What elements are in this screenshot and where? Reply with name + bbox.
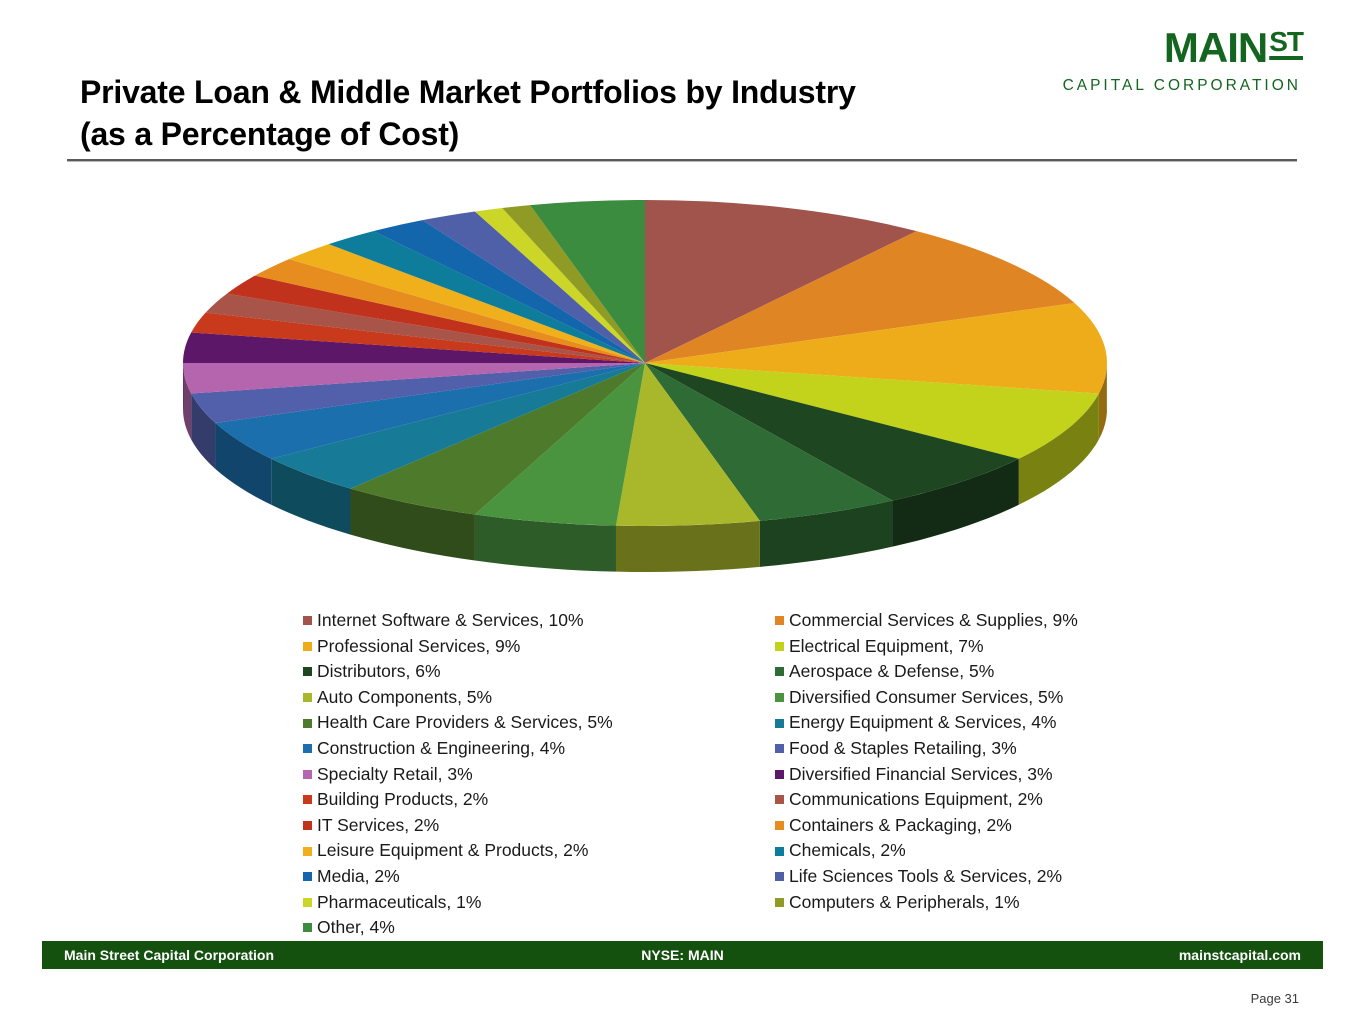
legend-item-label: Electrical Equipment, 7% — [789, 638, 984, 656]
legend-item-label: Aerospace & Defense, 5% — [789, 663, 994, 681]
footer-ticker: NYSE: MAIN — [641, 947, 723, 963]
legend-item[interactable]: IT Services, 2% — [303, 813, 773, 839]
page-title: Private Loan & Middle Market Portfolios … — [80, 72, 1080, 155]
legend-swatch-icon — [303, 667, 312, 676]
legend-item-label: Media, 2% — [317, 868, 400, 886]
legend-item[interactable]: Building Products, 2% — [303, 787, 773, 813]
logo-st-text: ST — [1269, 28, 1303, 56]
legend-item[interactable]: Media, 2% — [303, 864, 773, 890]
legend-item[interactable]: Electrical Equipment, 7% — [775, 634, 1245, 660]
footer-company-name: Main Street Capital Corporation — [64, 947, 274, 963]
legend-swatch-icon — [775, 744, 784, 753]
legend-swatch-icon — [775, 795, 784, 804]
legend-item-label: IT Services, 2% — [317, 817, 439, 835]
legend-swatch-icon — [775, 616, 784, 625]
legend-item[interactable]: Computers & Peripherals, 1% — [775, 890, 1245, 916]
pie-slice-side-auto-components — [615, 521, 759, 572]
pie-top-face-group: Internet Software & Services, 10%Commerc… — [183, 200, 1107, 526]
legend-item-label: Other, 4% — [317, 919, 395, 937]
legend-swatch-icon — [303, 693, 312, 702]
legend-item-label: Distributors, 6% — [317, 663, 441, 681]
legend-item-label: Commercial Services & Supplies, 9% — [789, 612, 1078, 630]
legend-item-label: Health Care Providers & Services, 5% — [317, 714, 613, 732]
legend-swatch-icon — [303, 821, 312, 830]
footer-website: mainstcapital.com — [1179, 947, 1301, 963]
legend-swatch-icon — [775, 667, 784, 676]
legend-item-label: Food & Staples Retailing, 3% — [789, 740, 1017, 758]
legend-item-label: Containers & Packaging, 2% — [789, 817, 1012, 835]
company-logo: MAINST CAPITAL CORPORATION — [1063, 27, 1303, 94]
legend-swatch-icon — [303, 795, 312, 804]
title-divider — [67, 159, 1297, 162]
legend-item-label: Communications Equipment, 2% — [789, 791, 1043, 809]
legend-item-label: Pharmaceuticals, 1% — [317, 894, 481, 912]
legend-swatch-icon — [303, 847, 312, 856]
pie-chart-svg: Internet Software & Services, 10%Commerc… — [183, 178, 1183, 598]
legend-item[interactable]: Containers & Packaging, 2% — [775, 813, 1245, 839]
legend-swatch-icon — [775, 821, 784, 830]
legend-swatch-icon — [775, 693, 784, 702]
pie-chart: Internet Software & Services, 10%Commerc… — [0, 178, 1365, 603]
legend-item-label: Specialty Retail, 3% — [317, 766, 473, 784]
legend-item-label: Chemicals, 2% — [789, 842, 906, 860]
legend-item[interactable]: Commercial Services & Supplies, 9% — [775, 608, 1245, 634]
legend-item-label: Auto Components, 5% — [317, 689, 492, 707]
legend-item[interactable]: Professional Services, 9% — [303, 634, 773, 660]
legend-item[interactable]: Life Sciences Tools & Services, 2% — [775, 864, 1245, 890]
legend-item-label: Computers & Peripherals, 1% — [789, 894, 1020, 912]
legend-item[interactable]: Construction & Engineering, 4% — [303, 736, 773, 762]
legend-swatch-icon — [303, 770, 312, 779]
legend-item[interactable]: Energy Equipment & Services, 4% — [775, 710, 1245, 736]
legend-item[interactable]: Diversified Financial Services, 3% — [775, 762, 1245, 788]
legend-swatch-icon — [775, 770, 784, 779]
legend-swatch-icon — [775, 872, 784, 881]
legend-column-right: Commercial Services & Supplies, 9%Electr… — [775, 608, 1245, 915]
legend-item-label: Energy Equipment & Services, 4% — [789, 714, 1057, 732]
legend-item-label: Leisure Equipment & Products, 2% — [317, 842, 588, 860]
legend-item-label: Diversified Consumer Services, 5% — [789, 689, 1063, 707]
legend-item[interactable]: Diversified Consumer Services, 5% — [775, 685, 1245, 711]
legend-item-label: Life Sciences Tools & Services, 2% — [789, 868, 1062, 886]
legend-swatch-icon — [303, 642, 312, 651]
legend-item[interactable]: Communications Equipment, 2% — [775, 787, 1245, 813]
legend-item-label: Construction & Engineering, 4% — [317, 740, 565, 758]
legend-swatch-icon — [775, 898, 784, 907]
legend-item[interactable]: Food & Staples Retailing, 3% — [775, 736, 1245, 762]
legend-item[interactable]: Aerospace & Defense, 5% — [775, 659, 1245, 685]
legend-item[interactable]: Specialty Retail, 3% — [303, 762, 773, 788]
legend-swatch-icon — [775, 847, 784, 856]
legend-swatch-icon — [775, 719, 784, 728]
legend-column-left: Internet Software & Services, 10%Profess… — [303, 608, 773, 941]
legend-swatch-icon — [775, 642, 784, 651]
legend-swatch-icon — [303, 872, 312, 881]
logo-main-text: MAIN — [1164, 27, 1267, 69]
legend-swatch-icon — [303, 744, 312, 753]
legend-item[interactable]: Other, 4% — [303, 915, 773, 941]
legend-item[interactable]: Pharmaceuticals, 1% — [303, 890, 773, 916]
logo-subtitle: CAPITAL CORPORATION — [1063, 78, 1303, 94]
legend-item-label: Professional Services, 9% — [317, 638, 520, 656]
legend-swatch-icon — [303, 616, 312, 625]
legend-swatch-icon — [303, 923, 312, 932]
legend-swatch-icon — [303, 719, 312, 728]
legend-item[interactable]: Internet Software & Services, 10% — [303, 608, 773, 634]
legend-swatch-icon — [303, 898, 312, 907]
legend-item[interactable]: Distributors, 6% — [303, 659, 773, 685]
legend-item[interactable]: Auto Components, 5% — [303, 685, 773, 711]
chart-legend: Internet Software & Services, 10%Profess… — [0, 608, 1365, 938]
footer-bar: Main Street Capital Corporation NYSE: MA… — [42, 941, 1323, 969]
legend-item-label: Internet Software & Services, 10% — [317, 612, 584, 630]
logo-wordmark: MAINST — [1063, 27, 1303, 69]
legend-item[interactable]: Health Care Providers & Services, 5% — [303, 710, 773, 736]
page-number: Page 31 — [1251, 991, 1299, 1006]
legend-item-label: Diversified Financial Services, 3% — [789, 766, 1053, 784]
legend-item-label: Building Products, 2% — [317, 791, 488, 809]
legend-item[interactable]: Leisure Equipment & Products, 2% — [303, 838, 773, 864]
legend-item[interactable]: Chemicals, 2% — [775, 838, 1245, 864]
